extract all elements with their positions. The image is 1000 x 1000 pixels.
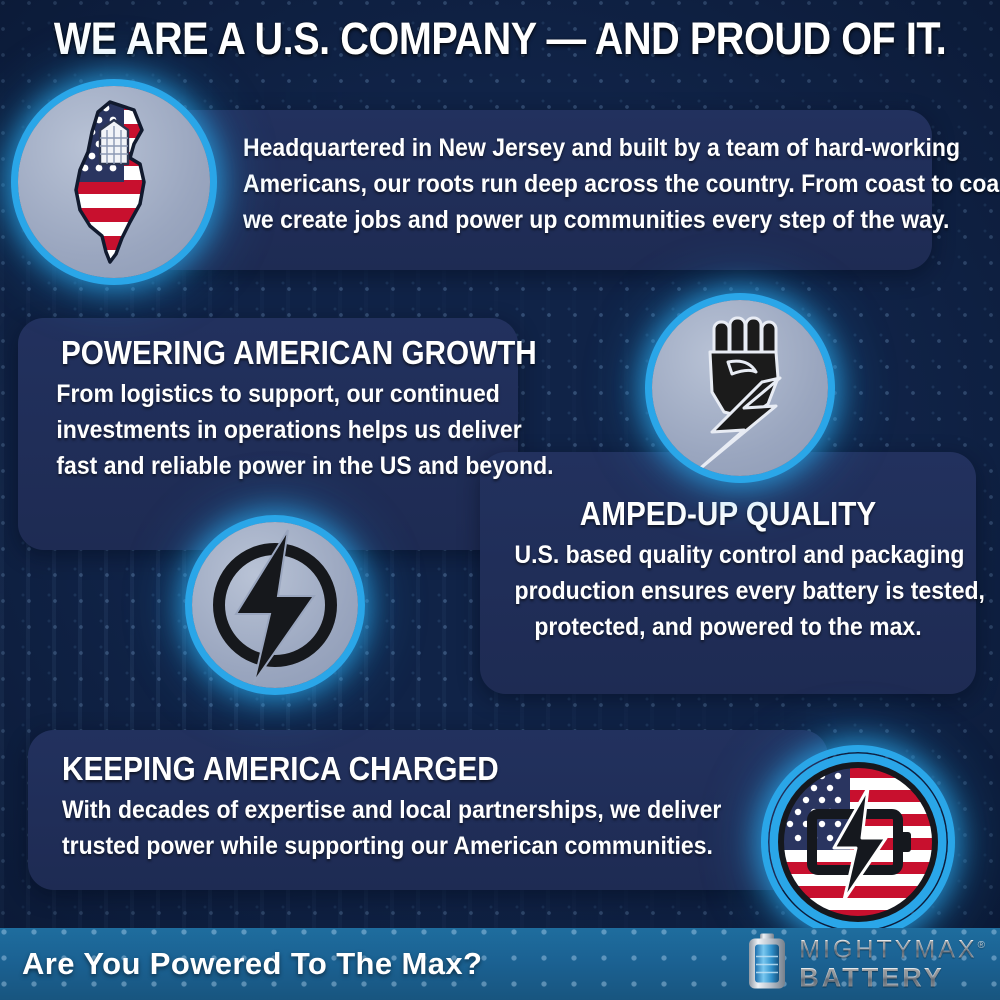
growth-text-block: POWERING AMERICAN GROWTH From logistics … (38, 334, 498, 484)
charged-text-block: KEEPING AMERICA CHARGED With decades of … (62, 750, 702, 864)
raised-fist-lightning-icon (652, 300, 828, 476)
charged-title: KEEPING AMERICA CHARGED (62, 750, 638, 788)
page-title: WE ARE A U.S. COMPANY — AND PROUD OF IT. (54, 13, 947, 65)
logo-wordmark: MIGHTYMAX® BATTERY (799, 937, 988, 991)
quality-body: U.S. based quality control and packaging… (515, 537, 942, 645)
growth-title: POWERING AMERICAN GROWTH (61, 334, 475, 372)
charged-body: With decades of expertise and local part… (62, 792, 651, 864)
new-jersey-flag-map-icon (18, 86, 210, 278)
headquarters-text-block: Headquartered in New Jersey and built by… (215, 130, 915, 238)
growth-body: From logistics to support, our continued… (56, 376, 479, 484)
footer-band: Are You Powered To The Max? (0, 928, 1000, 1000)
quality-title: AMPED-UP QUALITY (519, 495, 937, 533)
quality-text-block: AMPED-UP QUALITY U.S. based quality cont… (496, 495, 960, 645)
battery-cell-icon (745, 933, 789, 996)
headquarters-body: Headquartered in New Jersey and built by… (243, 130, 887, 238)
lightning-bolt-circle-icon (192, 522, 358, 688)
header-band: WE ARE A U.S. COMPANY — AND PROUD OF IT. (0, 0, 1000, 78)
flag-battery-bolt-icon (768, 752, 948, 932)
footer-tagline: Are You Powered To The Max? (22, 946, 482, 982)
registered-trademark-mark: ® (978, 940, 988, 951)
logo-line-battery: BATTERY (799, 964, 988, 991)
mighty-max-battery-logo[interactable]: MIGHTYMAX® BATTERY (745, 933, 988, 996)
infographic-poster: WE ARE A U.S. COMPANY — AND PROUD OF IT.… (0, 0, 1000, 1000)
logo-line-mightymax: MIGHTYMAX® (799, 937, 988, 962)
